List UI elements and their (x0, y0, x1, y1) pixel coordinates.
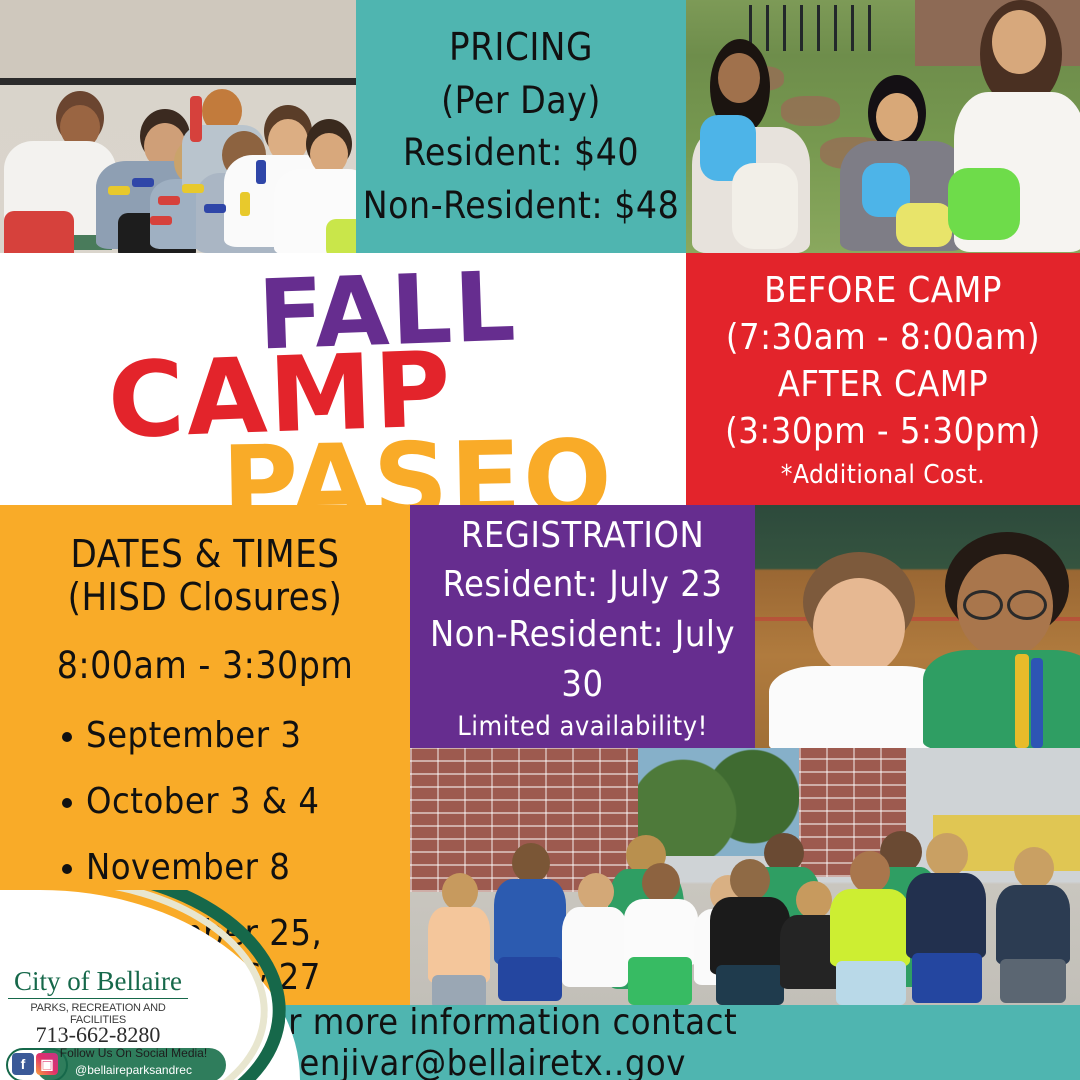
list-item: November 8 (86, 849, 410, 886)
pricing-panel: PRICING (Per Day) Resident: $40 Non-Resi… (356, 0, 686, 253)
logo-city-name: City of Bellaire (8, 966, 188, 997)
before-camp-heading: BEFORE CAMP (764, 268, 1002, 315)
pricing-resident: Resident: $40 (403, 127, 639, 180)
fall-camp-paseo-flyer: PRICING (Per Day) Resident: $40 Non-Resi… (0, 0, 1080, 1080)
pricing-heading: PRICING (449, 21, 593, 75)
dates-heading: DATES & TIMES (71, 533, 340, 576)
contact-email-line: For more information contact smenjivar@b… (250, 1002, 1080, 1080)
limited-availability-note: Limited availability! (457, 711, 708, 742)
city-of-bellaire-logo: City of Bellaire PARKS, RECREATION AND F… (0, 890, 300, 1080)
before-after-camp-panel: BEFORE CAMP (7:30am - 8:00am) AFTER CAMP… (686, 253, 1080, 505)
registration-non-resident: Non-Resident: July 30 (410, 610, 755, 709)
after-camp-time: (3:30pm - 5:30pm) (725, 409, 1041, 456)
social-media-prompt: Follow Us On Social Media! (46, 1046, 221, 1060)
date-item-2: October 3 & 4 (86, 781, 319, 822)
pricing-subheading: (Per Day) (441, 75, 601, 128)
social-media-row: f ▣ Follow Us On Social Media! @bellaire… (6, 1048, 256, 1080)
logo-divider (8, 998, 188, 999)
flyer-title: FALL CAMP PASEO (0, 253, 686, 505)
date-item-1: September 3 (86, 715, 301, 756)
registration-panel: REGISTRATION Resident: July 23 Non-Resid… (410, 505, 755, 748)
registration-heading: REGISTRATION (461, 511, 704, 561)
photo-tiedye-activity (686, 0, 1080, 253)
registration-resident: Resident: July 23 (443, 560, 723, 610)
before-camp-time: (7:30am - 8:00am) (726, 315, 1040, 362)
photo-camp-group (410, 748, 1080, 1005)
logo-phone-number: 713-662-8280 (8, 1022, 188, 1048)
pricing-non-resident: Non-Resident: $48 (363, 180, 680, 233)
footer-contact-text: For more information contact smenjivar@b… (250, 1005, 1080, 1080)
photo-campers-blocks (0, 0, 356, 253)
dates-time-range: 8:00am - 3:30pm (57, 644, 354, 687)
date-item-3: November 8 (86, 847, 290, 888)
social-media-handle: @bellaireparksandrec (46, 1063, 221, 1077)
photo-camper-counselor (755, 505, 1080, 748)
facebook-icon[interactable]: f (12, 1053, 34, 1075)
list-item: September 3 (86, 717, 410, 754)
list-item: October 3 & 4 (86, 783, 410, 820)
dates-subheading: (HISD Closures) (68, 576, 343, 619)
additional-cost-note: *Additional Cost. (781, 460, 985, 490)
after-camp-heading: AFTER CAMP (778, 362, 988, 409)
